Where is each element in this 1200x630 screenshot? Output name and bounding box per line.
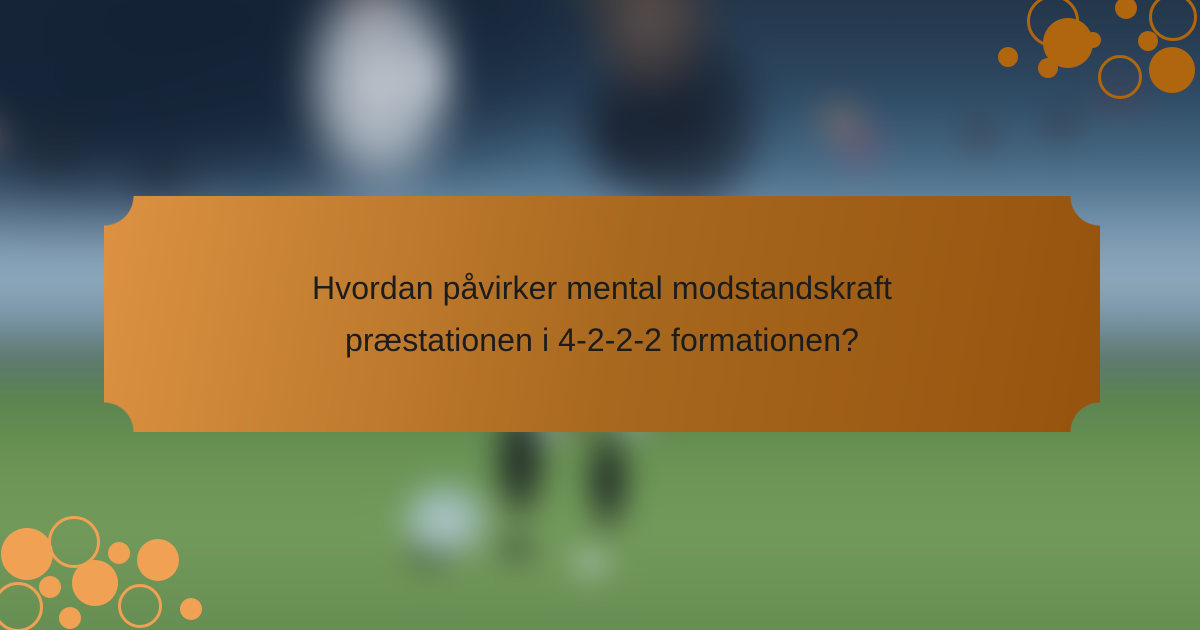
question-line-1: Hvordan påvirker mental modstandskraft bbox=[312, 270, 892, 306]
question-banner: Hvordan påvirker mental modstandskraft p… bbox=[104, 196, 1100, 432]
question-title: Hvordan påvirker mental modstandskraft p… bbox=[312, 262, 892, 366]
question-line-2: præstationen i 4-2-2-2 formationen? bbox=[345, 322, 859, 358]
social-share-card: Hvordan påvirker mental modstandskraft p… bbox=[0, 0, 1200, 630]
